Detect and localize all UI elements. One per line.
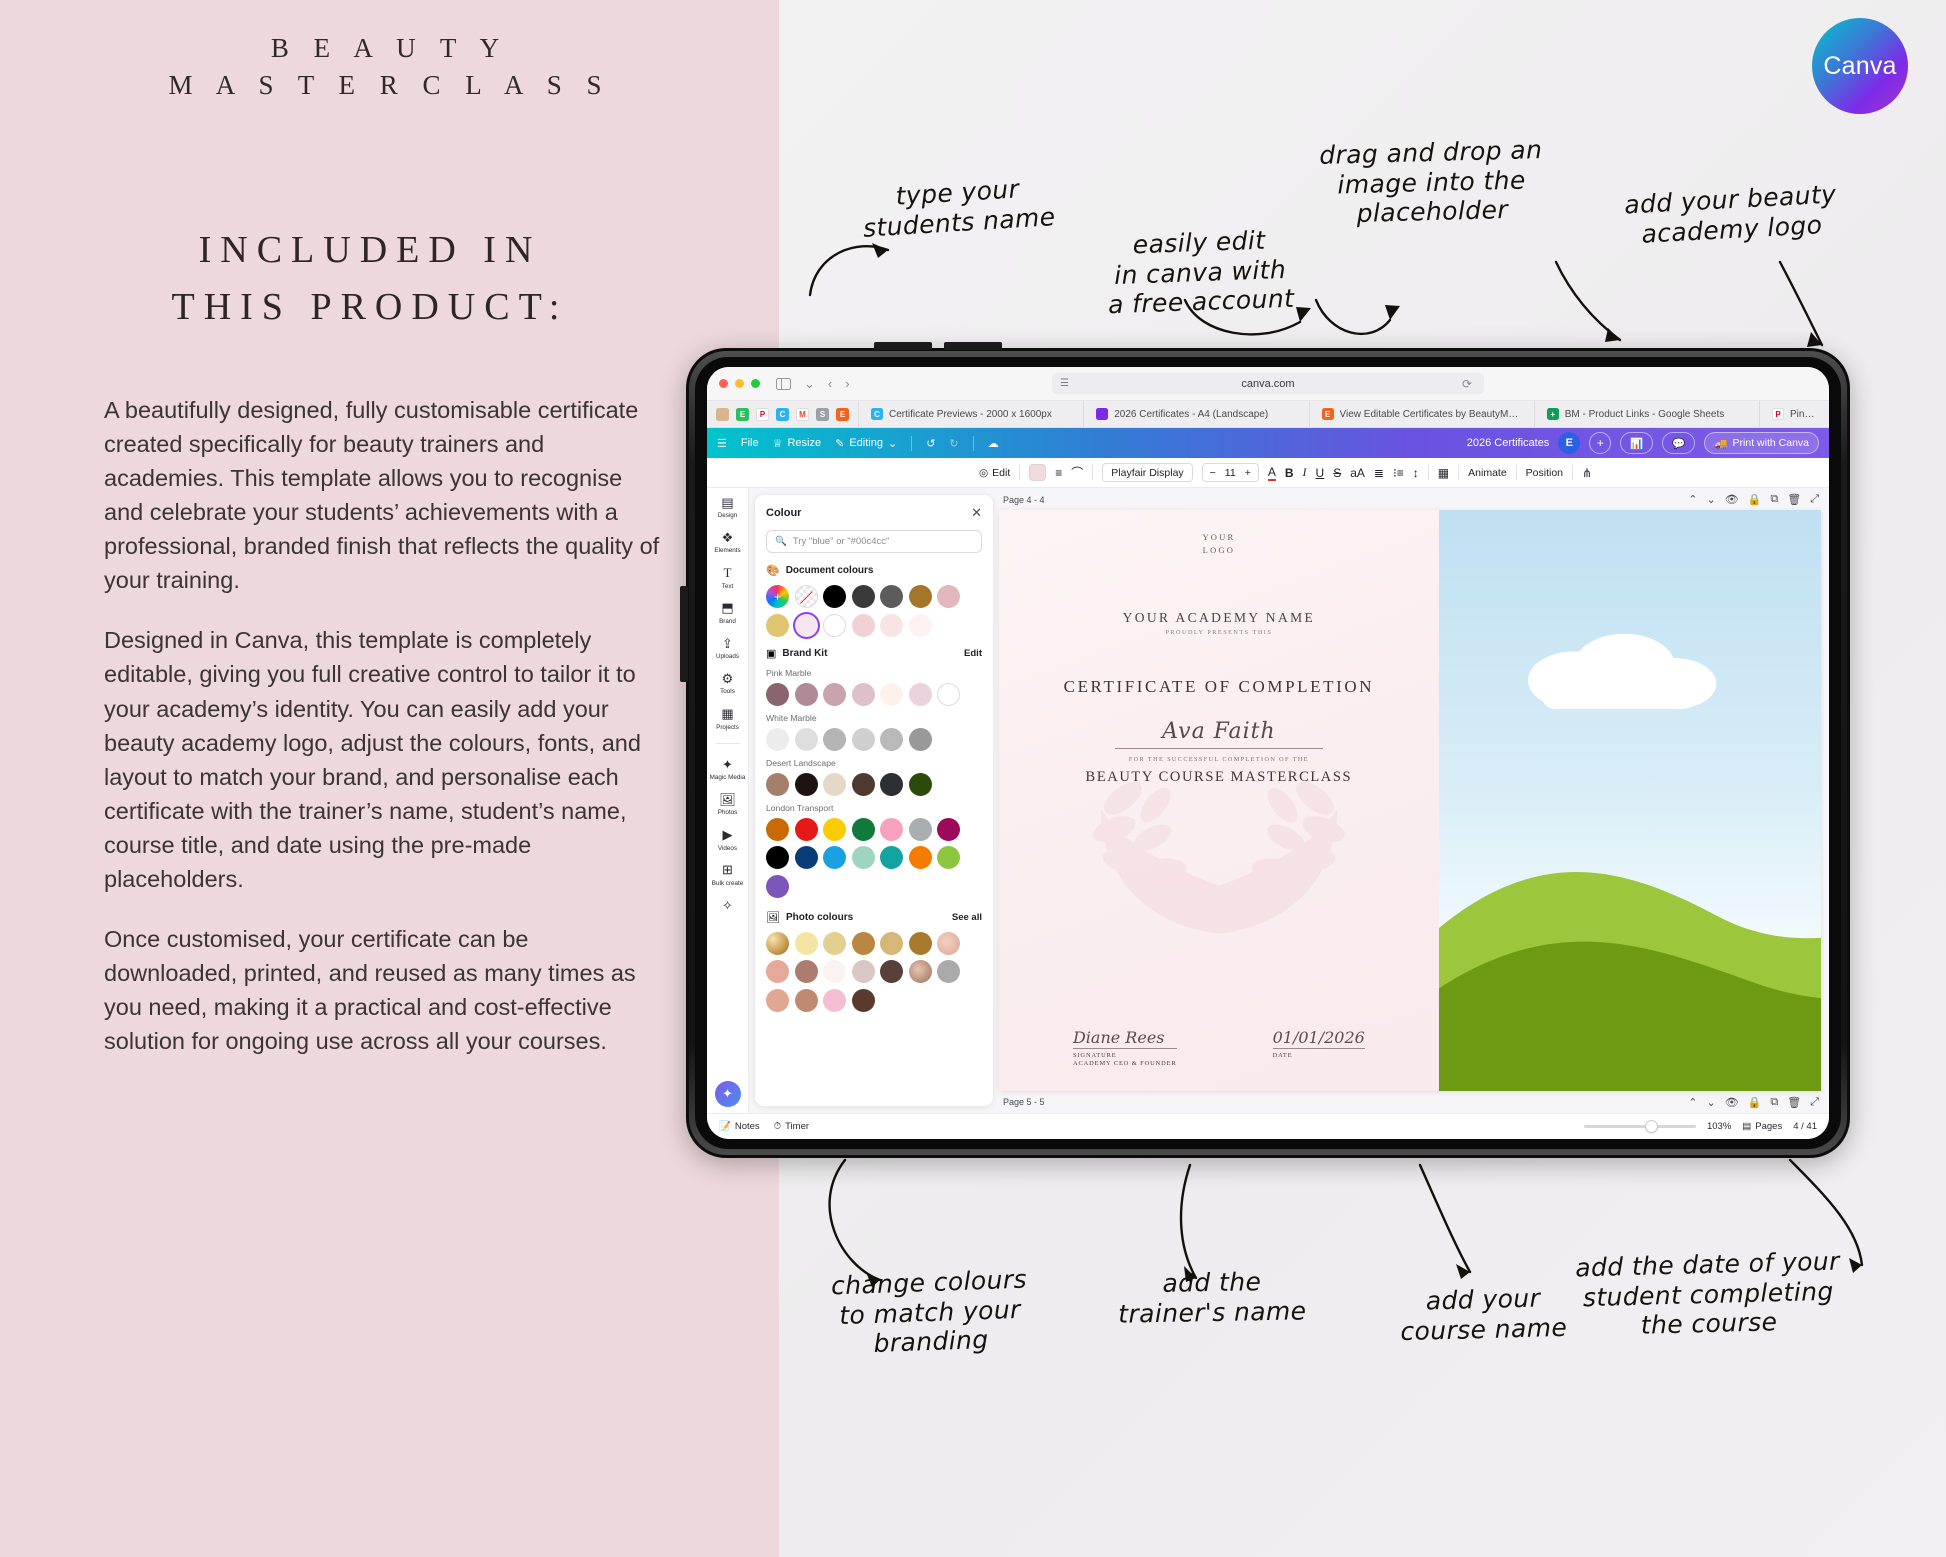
brand-kit-header: ▣ Brand Kit Edit (766, 647, 982, 660)
colour-swatch[interactable] (795, 818, 818, 841)
sidebar-item-label: Design (718, 513, 738, 519)
document-colours-label: Document colours (786, 565, 874, 576)
page-label-bottom: Page 5 - 5 (1003, 1097, 1045, 1107)
colour-swatch[interactable] (795, 683, 818, 706)
palette-swatches (766, 683, 982, 706)
bulk-create-icon: ⊞ (719, 862, 736, 879)
font-size-decrease[interactable]: − (1210, 467, 1216, 479)
canva-header-bar: ☰ File ♕ Resize ✎ Editing ⌄ ↺ ↻ ☁ 2026 C… (707, 428, 1829, 458)
sidebar-item-text[interactable]: T Text (719, 565, 736, 590)
palette-swatches (766, 728, 982, 751)
window-traffic-lights[interactable] (719, 379, 760, 388)
colour-swatch[interactable] (909, 932, 932, 955)
page-label-top: Page 4 - 4 (1003, 495, 1045, 505)
no-colour-swatch[interactable] (795, 585, 818, 608)
annotation-add-logo: add your beauty academy logo (1624, 179, 1839, 249)
page-count: 4 / 41 (1793, 1121, 1817, 1132)
apps-icon: ✧ (719, 897, 736, 914)
sidebar-item-label: Text (722, 584, 734, 590)
cloud-graphic (1508, 597, 1730, 748)
colour-swatch[interactable] (880, 683, 903, 706)
colour-swatch[interactable] (823, 728, 846, 751)
browser-toolbar: ⌄ ‹ › ☰ canva.com ⟳ (707, 367, 1829, 401)
lock-page-icon[interactable]: 🔒 (1748, 1096, 1762, 1109)
photo-colours-icon: 🖼 (766, 911, 780, 924)
divider (1428, 465, 1429, 480)
move-up-icon[interactable]: ⌃ (1688, 1096, 1697, 1109)
certificate-course-name[interactable]: BEAUTY COURSE MASTERCLASS (1086, 769, 1353, 786)
editing-label: Editing (849, 437, 883, 449)
colour-swatch[interactable] (909, 683, 932, 706)
canva-icon[interactable]: C (776, 408, 789, 421)
annotation-type-student-name: type your students name (860, 172, 1056, 243)
close-window-icon[interactable] (719, 379, 728, 388)
back-icon[interactable]: ‹ (828, 376, 832, 391)
canva-editor-body: ▤ Design ❖ Elements T Text ⬒ Brand ⇪ U (707, 488, 1829, 1113)
sidebar-toggle-icon[interactable] (776, 378, 791, 390)
timer-icon: ⏱ (774, 1121, 781, 1132)
canvas-area: Page 4 - 4 ⌃ ⌄ 👁 🔒 ⧉ 🗑 ⤢ (993, 488, 1829, 1113)
notes-label: Notes (735, 1121, 760, 1132)
sidebar-item-elements[interactable]: ❖ Elements (714, 529, 740, 554)
colour-swatch[interactable] (766, 728, 789, 751)
crown-icon: ♕ (773, 437, 783, 450)
move-down-icon[interactable]: ⌄ (1706, 1096, 1715, 1109)
page-title: INCLUDED IN THIS PRODUCT: (0, 222, 740, 336)
description-copy: A beautifully designed, fully customisab… (104, 393, 664, 1084)
colour-swatch[interactable] (823, 683, 846, 706)
colour-swatch[interactable] (766, 989, 789, 1012)
colour-swatch[interactable] (766, 773, 789, 796)
colour-swatch[interactable] (766, 614, 789, 637)
font-size-increase[interactable]: + (1245, 467, 1251, 479)
text-colour-swatch[interactable] (1029, 464, 1046, 481)
colour-search-placeholder: Try "blue" or "#00c4cc" (793, 536, 890, 547)
sidebar-item-label: Photos (718, 810, 738, 816)
colour-panel-title: Colour (766, 507, 801, 519)
comment-button[interactable]: 💬 (1662, 432, 1695, 454)
etsy-icon[interactable]: E (836, 408, 849, 421)
elements-icon: ❖ (719, 529, 736, 546)
certificate-left-half: YOUR LOGO YOUR ACADEMY NAME PROUDLY PRES… (999, 510, 1439, 1091)
annotation-drag-and-drop: drag and drop an image into the placehol… (1319, 135, 1544, 229)
tools-icon: ⚙ (719, 670, 736, 687)
avatar[interactable]: E (1558, 432, 1580, 454)
certificate-presents-line: PROUDLY PRESENTS THIS (1165, 629, 1272, 636)
annotation-date: add the date of your student completing … (1575, 1247, 1842, 1342)
palette-name: White Marble (766, 713, 982, 723)
divider (1019, 465, 1020, 480)
tablet-device-frame: ⌄ ‹ › ☰ canva.com ⟳ E P C M S E C Certif (686, 348, 1850, 1158)
forward-icon[interactable]: › (845, 376, 849, 391)
delete-page-icon[interactable]: 🗑 (1787, 493, 1801, 506)
colour-swatch[interactable] (795, 960, 818, 983)
colour-swatch[interactable] (880, 728, 903, 751)
divider (1092, 465, 1093, 480)
timer-label: Timer (785, 1121, 809, 1132)
sidebar-item-photos[interactable]: 🖼 Photos (718, 791, 738, 816)
paragraph-1: A beautifully designed, fully customisab… (104, 393, 664, 597)
sidebar-item-label: Uploads (716, 654, 739, 660)
annotation-trainer-name: add the trainer's name (1117, 1266, 1306, 1328)
editing-mode-dropdown[interactable]: ✎ Editing ⌄ (835, 437, 897, 450)
palette-name: Pink Marble (766, 668, 982, 678)
photo-colours-label: Photo colours (786, 912, 853, 923)
text-case-icon[interactable]: aA (1350, 466, 1365, 480)
evernote-icon[interactable]: E (736, 408, 749, 421)
hills-graphic (1439, 789, 1821, 1091)
date-block[interactable]: 01/01/2026 DATE (1273, 1028, 1365, 1069)
insights-icon: 📊 (1630, 437, 1643, 450)
zoom-value: 103% (1707, 1121, 1731, 1132)
divider (716, 743, 740, 744)
divider (1572, 465, 1573, 480)
tool-rail: ▤ Design ❖ Elements T Text ⬒ Brand ⇪ U (707, 488, 749, 1113)
edit-image-button[interactable]: ◎ Edit (979, 467, 1010, 479)
canva-header-right: 2026 Certificates E + 📊 💬 🚚 Print with C… (1467, 432, 1819, 454)
colour-swatch[interactable] (909, 773, 932, 796)
sheets-icon[interactable]: S (816, 408, 829, 421)
resize-button[interactable]: ♕ Resize (773, 437, 822, 450)
colour-swatch[interactable] (937, 960, 960, 983)
notes-button[interactable]: 📝 Notes (719, 1121, 760, 1132)
colour-swatch[interactable] (909, 846, 932, 869)
colour-swatch[interactable] (852, 818, 875, 841)
left-info-panel: B E A U T Y M A S T E R C L A S S INCLUD… (0, 0, 779, 1557)
photo-colours-header: 🖼 Photo colours See all (766, 911, 982, 924)
expand-page-icon[interactable]: ⤢ (1810, 493, 1819, 506)
photo-colours-see-all-button[interactable]: See all (952, 912, 982, 923)
sidebar-item-uploads[interactable]: ⇪ Uploads (716, 635, 739, 660)
bookmark-icon[interactable] (716, 408, 729, 421)
colour-swatch[interactable] (852, 960, 875, 983)
annotation-course-name: add your course name (1399, 1283, 1567, 1346)
font-size-value: 11 (1225, 467, 1236, 479)
certificate-logo-placeholder[interactable]: YOUR LOGO (1202, 531, 1235, 557)
maximize-window-icon[interactable] (751, 379, 760, 388)
edit-photo-icon: ◎ (979, 467, 988, 479)
document-colours-header: 🎨 Document colours (766, 564, 982, 577)
sidebar-item-label: Tools (720, 689, 735, 695)
sidebar-item-magic-media[interactable]: ✦ Magic Media (710, 756, 746, 781)
magic-media-icon: ✦ (719, 756, 736, 773)
notes-icon: 📝 (719, 1121, 731, 1132)
colour-swatch[interactable] (823, 585, 846, 608)
divider (911, 436, 912, 451)
edit-label: Edit (992, 467, 1010, 479)
magic-studio-button[interactable]: ✦ (715, 1081, 741, 1107)
videos-icon: ▶ (719, 827, 736, 844)
italic-button[interactable]: I (1303, 465, 1307, 480)
colour-swatch[interactable] (909, 614, 932, 637)
certificate-academy-name[interactable]: YOUR ACADEMY NAME (1123, 610, 1316, 626)
insights-button[interactable]: 📊 (1620, 432, 1653, 454)
page-controls-bottom: ⌃ ⌄ 👁 🔒 ⧉ 🗑 ⤢ (1688, 1096, 1819, 1109)
timer-button[interactable]: ⏱ Timer (774, 1121, 809, 1132)
canva-status-bar: 📝 Notes ⏱ Timer 103% ▤ Pages 4 / 41 (707, 1113, 1829, 1139)
colour-panel-header: Colour ✕ (766, 505, 982, 521)
colour-swatch[interactable] (880, 960, 903, 983)
colour-swatch[interactable] (909, 818, 932, 841)
photo-thumbnail-swatch[interactable] (937, 932, 960, 955)
sidebar-item-apps[interactable]: ✧ (719, 897, 736, 914)
colour-swatch[interactable] (909, 585, 932, 608)
list-icon[interactable]: ⁝≡ (1393, 466, 1404, 480)
date-label: DATE (1273, 1052, 1365, 1061)
brand-kit-label: Brand Kit (782, 648, 827, 659)
colour-swatch[interactable] (937, 818, 960, 841)
colour-swatch[interactable] (880, 818, 903, 841)
photo-thumbnail-swatch[interactable] (909, 960, 932, 983)
cloud-saved-icon[interactable]: ☁ (988, 437, 999, 450)
file-menu-button[interactable]: File (741, 437, 759, 449)
uploads-icon: ⇪ (719, 635, 736, 652)
browser-tab[interactable]: 2026 Certificates - A4 (Landscape) (1083, 401, 1308, 427)
font-colour-icon[interactable]: A (1268, 465, 1276, 481)
pages-icon: ▤ (1742, 1121, 1751, 1132)
gmail-icon[interactable]: M (796, 408, 809, 421)
truck-icon: 🚚 (1714, 437, 1727, 450)
colour-swatch[interactable] (823, 773, 846, 796)
pages-label: Pages (1755, 1121, 1782, 1132)
colour-swatch[interactable] (880, 585, 903, 608)
add-collaborator-button[interactable]: + (1589, 432, 1611, 454)
palette-swatches (766, 818, 982, 898)
bookmarks-bar: E P C M S E (707, 401, 858, 427)
status-bar-right: 103% ▤ Pages 4 / 41 (1584, 1121, 1817, 1132)
duplicate-page-icon[interactable]: ⧉ (1770, 1096, 1778, 1109)
annotation-easily-edit: easily edit in canva with a free account (1106, 225, 1295, 320)
browser-tab-label: View Editable Certificates by BeautyMast… (1340, 409, 1522, 420)
chevron-down-icon[interactable]: ⌄ (804, 376, 815, 392)
bold-button[interactable]: B (1285, 466, 1294, 480)
certificate-image-placeholder[interactable] (1439, 510, 1821, 1091)
zoom-slider[interactable] (1584, 1125, 1696, 1128)
strikethrough-button[interactable]: S (1333, 466, 1341, 480)
palette-swatches (766, 773, 982, 796)
browser-tab[interactable]: E View Editable Certificates by BeautyMa… (1309, 401, 1534, 427)
colour-swatch[interactable] (852, 932, 875, 955)
duplicate-page-icon[interactable]: ⧉ (1770, 493, 1778, 506)
colour-swatch[interactable] (766, 818, 789, 841)
signature-label: SIGNATURE ACADEMY CEO & FOUNDER (1073, 1052, 1177, 1069)
photo-thumbnail-swatch[interactable] (766, 932, 789, 955)
colour-swatch[interactable] (823, 989, 846, 1012)
text-icon: T (719, 565, 736, 582)
colour-swatch[interactable] (880, 932, 903, 955)
volume-up-button[interactable] (874, 342, 932, 350)
resize-label: Resize (787, 437, 821, 449)
sidebar-item-label: Projects (716, 725, 739, 731)
browser-tab-label: 2026 Certificates - A4 (Landscape) (1114, 409, 1268, 420)
signature-rule (1073, 1048, 1177, 1049)
colour-swatch[interactable] (823, 960, 846, 983)
colour-swatch-selected[interactable] (795, 614, 818, 637)
sidebar-item-label: Elements (714, 548, 740, 554)
palette-name: London Transport (766, 803, 982, 813)
colour-swatch[interactable] (766, 875, 789, 898)
colour-swatch[interactable] (852, 846, 875, 869)
volume-down-button[interactable] (944, 342, 1002, 350)
font-family-value: Playfair Display (1111, 467, 1183, 479)
pinterest-icon[interactable]: P (756, 408, 769, 421)
date-rule (1273, 1048, 1365, 1049)
annotation-change-colours: change colours to match your branding (831, 1265, 1030, 1360)
colour-swatch[interactable] (795, 773, 818, 796)
zoom-slider-handle[interactable] (1646, 1121, 1657, 1132)
tablet-screen: ⌄ ‹ › ☰ canva.com ⟳ E P C M S E C Certif (707, 367, 1829, 1139)
colour-swatch[interactable] (795, 846, 818, 869)
colour-swatch[interactable] (795, 728, 818, 751)
certificate-footer: Diane Rees SIGNATURE ACADEMY CEO & FOUND… (999, 1028, 1439, 1069)
chevron-down-icon: ⌄ (888, 437, 897, 450)
brand-kit-edit-button[interactable]: Edit (964, 648, 982, 659)
animate-button[interactable]: Animate (1468, 467, 1507, 479)
tab-favicon-icon: E (1322, 408, 1334, 420)
date-value[interactable]: 01/01/2026 (1273, 1028, 1365, 1047)
sidebar-item-label: Videos (718, 846, 737, 852)
colour-swatch[interactable] (937, 846, 960, 869)
sidebar-item-bulk-create[interactable]: ⊞ Bulk create (712, 862, 744, 887)
colour-panel: Colour ✕ 🔍 Try "blue" or "#00c4cc" 🎨 Doc… (755, 495, 993, 1106)
projects-icon: ▦ (719, 706, 736, 723)
address-bar-text: canva.com (1241, 378, 1294, 390)
move-down-icon[interactable]: ⌄ (1706, 493, 1715, 506)
page-controls-top: ⌃ ⌄ 👁 🔒 ⧉ 🗑 ⤢ (1688, 493, 1819, 506)
hamburger-menu-icon[interactable]: ☰ (717, 437, 727, 450)
document-colours-icon: 🎨 (766, 564, 780, 577)
brand-kit-icon: ▣ (766, 647, 776, 660)
browser-tab-label: BM - Product Links - Google Sheets (1565, 409, 1725, 420)
browser-tab-strip: E P C M S E C Certificate Previews - 200… (707, 401, 1829, 428)
reader-view-icon[interactable]: ☰ (1060, 378, 1069, 389)
certificate-title[interactable]: CERTIFICATE OF COMPLETION (1064, 677, 1375, 697)
sidebar-item-label: Bulk create (712, 881, 744, 887)
colour-swatch[interactable] (880, 846, 903, 869)
colour-swatch[interactable] (852, 585, 875, 608)
position-button[interactable]: Position (1526, 467, 1563, 479)
undo-icon[interactable]: ↺ (926, 437, 935, 450)
divider (973, 436, 974, 451)
text-format-toolbar: ◎ Edit ≡ ⌒ Playfair Display − 11 + A B I… (707, 458, 1829, 488)
curve-text-icon[interactable]: ⌒ (1071, 464, 1083, 481)
colour-swatch[interactable] (909, 728, 932, 751)
colour-swatch[interactable] (795, 989, 818, 1012)
expand-page-icon[interactable]: ⤢ (1810, 1096, 1819, 1109)
document-title[interactable]: 2026 Certificates (1467, 437, 1550, 449)
spacing-icon[interactable]: ↕ (1413, 466, 1419, 480)
brand-icon: ⬒ (719, 600, 736, 617)
browser-tab-label: Certificate Previews - 2000 x 1600px (889, 409, 1052, 420)
font-size-stepper[interactable]: − 11 + (1202, 463, 1259, 482)
student-name-rule (1115, 748, 1323, 749)
close-icon[interactable]: ✕ (971, 505, 982, 521)
browser-tab[interactable]: P Pinterest (1759, 401, 1829, 427)
print-label: Print with Canva (1733, 437, 1809, 449)
signature-script[interactable]: Diane Rees (1073, 1028, 1177, 1047)
certificate-page[interactable]: YOUR LOGO YOUR ACADEMY NAME PROUDLY PRES… (999, 510, 1821, 1091)
colour-swatch[interactable] (852, 989, 875, 1012)
colour-swatch[interactable] (852, 728, 875, 751)
browser-tab-label: Pinterest (1790, 409, 1817, 420)
underline-button[interactable]: U (1316, 466, 1325, 480)
canva-logo-text: Canva (1823, 52, 1896, 81)
sidebar-item-tools[interactable]: ⚙ Tools (719, 670, 736, 695)
colour-swatch[interactable] (937, 683, 960, 706)
sidebar-item-brand[interactable]: ⬒ Brand (719, 600, 736, 625)
move-up-icon[interactable]: ⌃ (1688, 493, 1697, 506)
tab-favicon-icon (1096, 408, 1108, 420)
colour-swatch[interactable] (823, 818, 846, 841)
certificate-completion-line: FOR THE SUCCESSFUL COMPLETION OF THE (1129, 756, 1309, 763)
tab-favicon-icon: + (1547, 408, 1559, 420)
colour-swatch[interactable] (766, 683, 789, 706)
transparency-icon[interactable]: ▦ (1438, 466, 1449, 480)
colour-swatch[interactable] (766, 960, 789, 983)
colour-swatch[interactable] (852, 614, 875, 637)
sidebar-item-design[interactable]: ▤ Design (718, 494, 738, 519)
colour-swatch[interactable] (852, 683, 875, 706)
colour-swatch[interactable] (795, 932, 818, 955)
more-options-icon[interactable]: ⋔ (1582, 466, 1592, 480)
hide-page-icon[interactable]: 👁 (1725, 493, 1739, 506)
document-colours-grid (766, 585, 982, 637)
divider (1458, 465, 1459, 480)
colour-swatch[interactable] (852, 773, 875, 796)
sidebar-item-label: Brand (719, 619, 736, 625)
colour-swatch[interactable] (766, 846, 789, 869)
sidebar-item-videos[interactable]: ▶ Videos (718, 827, 737, 852)
colour-swatch[interactable] (823, 846, 846, 869)
delete-page-icon[interactable]: 🗑 (1787, 1096, 1801, 1109)
address-bar[interactable]: ☰ canva.com ⟳ (1052, 373, 1484, 394)
design-icon: ▤ (719, 494, 736, 511)
colour-swatch[interactable] (937, 585, 960, 608)
pencil-icon: ✎ (835, 437, 844, 450)
font-family-select[interactable]: Playfair Display (1102, 463, 1192, 482)
browser-tab[interactable]: C Certificate Previews - 2000 x 1600px (858, 401, 1083, 427)
canva-logo: Canva (1812, 18, 1908, 114)
certificate-student-name[interactable]: Ava Faith (1162, 719, 1275, 744)
sidebar-item-projects[interactable]: ▦ Projects (716, 706, 739, 731)
align-icon[interactable]: ≡ (1055, 466, 1062, 480)
redo-icon[interactable]: ↻ (949, 437, 958, 450)
colour-picker-swatch[interactable] (766, 585, 789, 608)
search-icon: 🔍 (775, 536, 787, 547)
signature-block[interactable]: Diane Rees SIGNATURE ACADEMY CEO & FOUND… (1073, 1028, 1177, 1069)
lock-page-icon[interactable]: 🔒 (1748, 493, 1762, 506)
colour-swatch[interactable] (823, 932, 846, 955)
colour-search-input[interactable]: 🔍 Try "blue" or "#00c4cc" (766, 530, 982, 553)
colour-swatch[interactable] (880, 773, 903, 796)
pages-button[interactable]: ▤ Pages (1742, 1121, 1782, 1132)
sidebar-item-label: Magic Media (710, 775, 746, 781)
divider (1516, 465, 1517, 480)
colour-swatch[interactable] (880, 614, 903, 637)
minimize-window-icon[interactable] (735, 379, 744, 388)
photo-colours-grid (766, 932, 982, 1012)
browser-tab[interactable]: + BM - Product Links - Google Sheets (1534, 401, 1759, 427)
text-align-icon[interactable]: ≣ (1374, 466, 1384, 480)
palette-name: Desert Landscape (766, 758, 982, 768)
power-button[interactable] (680, 586, 688, 682)
reload-icon[interactable]: ⟳ (1462, 377, 1472, 391)
hide-page-icon[interactable]: 👁 (1725, 1096, 1739, 1109)
colour-swatch[interactable] (823, 614, 846, 637)
print-with-canva-button[interactable]: 🚚 Print with Canva (1704, 432, 1819, 454)
tab-favicon-icon: P (1772, 408, 1784, 420)
photos-icon: 🖼 (719, 791, 736, 808)
